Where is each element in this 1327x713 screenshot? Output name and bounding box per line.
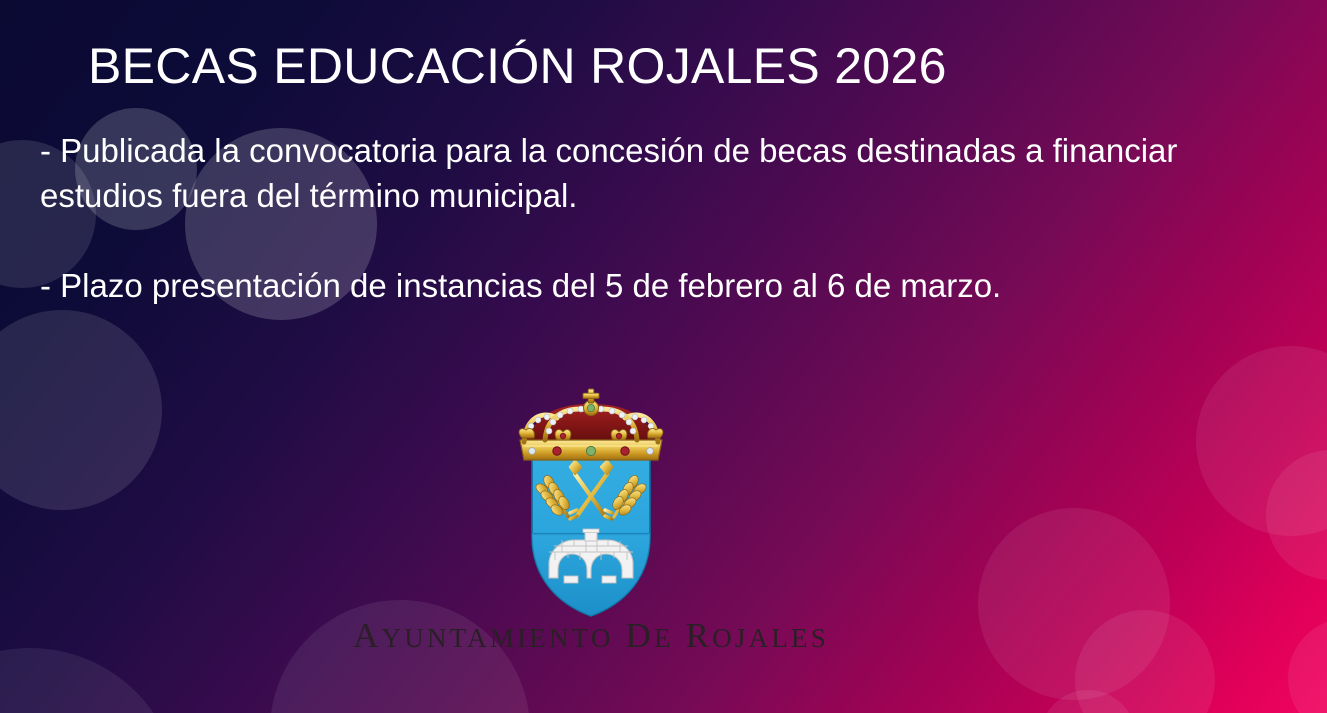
- escudo-rojales-crest: [502, 388, 680, 624]
- decorative-circle: [1266, 450, 1327, 580]
- wordmark-a: A: [353, 616, 381, 655]
- crown-icon: [519, 389, 663, 460]
- wordmark-yuntamiento: YUNTAMIENTO: [382, 623, 614, 653]
- decorative-circle: [978, 508, 1170, 700]
- decorative-circle: [0, 310, 162, 510]
- decorative-circle: [1288, 618, 1327, 713]
- wordmark-d: D: [626, 616, 654, 655]
- bullet-paragraph-1: - Publicada la convocatoria para la conc…: [40, 128, 1300, 218]
- cross-icon: [583, 389, 599, 403]
- bullet-paragraph-2: - Plazo presentación de instancias del 5…: [40, 263, 1300, 308]
- page-title: BECAS EDUCACIÓN ROJALES 2026: [88, 40, 947, 93]
- wordmark-e: E: [654, 623, 674, 653]
- decorative-circle: [1196, 346, 1327, 536]
- logo-wordmark: AYUNTAMIENTO DE ROJALES: [296, 616, 886, 656]
- decorative-circle: [0, 648, 180, 713]
- wordmark-ojales: OJALES: [712, 623, 829, 653]
- ayuntamiento-logo: AYUNTAMIENTO DE ROJALES: [296, 388, 886, 673]
- decorative-circle: [1075, 610, 1215, 713]
- slide-canvas: BECAS EDUCACIÓN ROJALES 2026 - Publicada…: [0, 0, 1327, 713]
- wordmark-r: R: [686, 616, 713, 655]
- decorative-circle: [1040, 690, 1136, 713]
